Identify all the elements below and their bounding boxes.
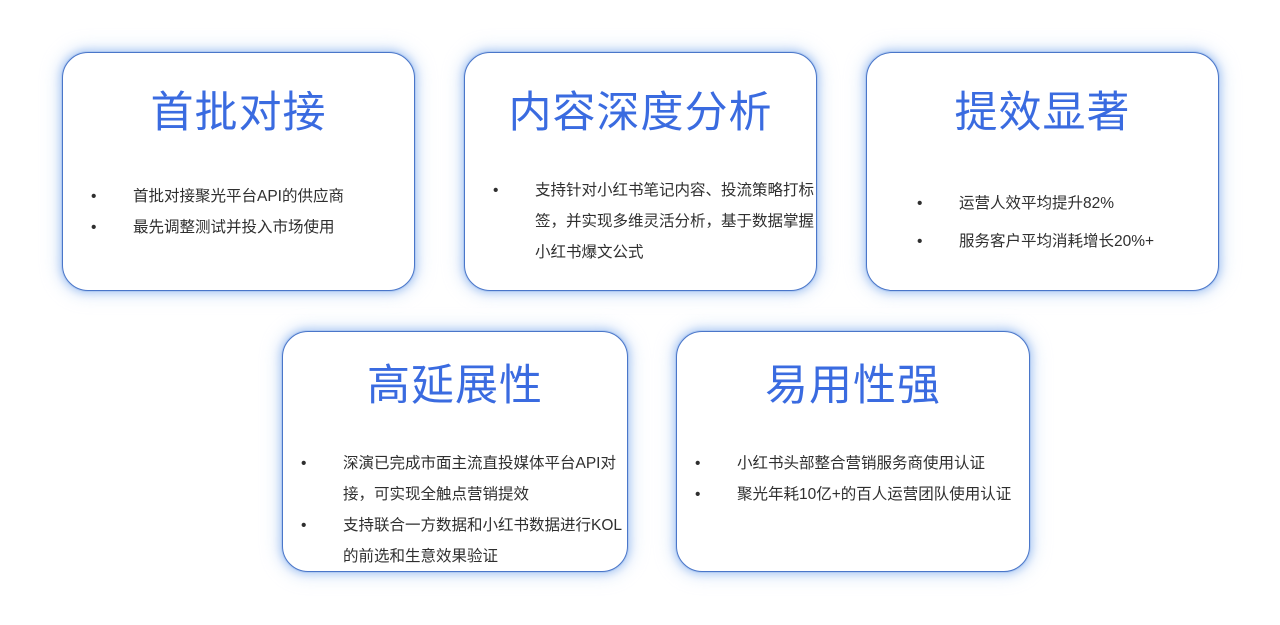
card-title: 提效显著: [867, 89, 1218, 137]
list-item: • 最先调整测试并投入市场使用: [91, 212, 414, 243]
bullet-point-icon: •: [695, 479, 707, 510]
feature-card-first-integration: 首批对接 • 首批对接聚光平台API的供应商 • 最先调整测试并投入市场使用: [62, 52, 415, 291]
feature-cards-slide: 首批对接 • 首批对接聚光平台API的供应商 • 最先调整测试并投入市场使用 内…: [0, 0, 1280, 625]
card-bullet-list: • 深演已完成市面主流直投媒体平台API对接，可实现全触点营销提效 • 支持联合…: [301, 448, 627, 572]
feature-card-ease-of-use: 易用性强 • 小红书头部整合营销服务商使用认证 • 聚光年耗10亿+的百人运营团…: [676, 331, 1030, 572]
card-title: 内容深度分析: [465, 89, 816, 137]
bullet-point-icon: •: [301, 510, 313, 541]
list-item: • 深演已完成市面主流直投媒体平台API对接，可实现全触点营销提效: [301, 448, 627, 510]
list-item: • 首批对接聚光平台API的供应商: [91, 181, 414, 212]
list-item-text: 支持联合一方数据和小红书数据进行KOL的前选和生意效果验证: [343, 510, 627, 572]
bullet-point-icon: •: [917, 223, 929, 261]
list-item: • 支持针对小红书笔记内容、投流策略打标签，并实现多维灵活分析，基于数据掌握小红…: [493, 175, 816, 268]
feature-card-high-extensibility: 高延展性 • 深演已完成市面主流直投媒体平台API对接，可实现全触点营销提效 •…: [282, 331, 628, 572]
feature-card-content-depth-analysis: 内容深度分析 • 支持针对小红书笔记内容、投流策略打标签，并实现多维灵活分析，基…: [464, 52, 817, 291]
list-item: • 支持联合一方数据和小红书数据进行KOL的前选和生意效果验证: [301, 510, 627, 572]
bullet-point-icon: •: [493, 175, 505, 206]
bullet-point-icon: •: [91, 212, 103, 243]
bullet-point-icon: •: [91, 181, 103, 212]
list-item: • 服务客户平均消耗增长20%+: [917, 223, 1218, 261]
card-title: 高延展性: [283, 362, 627, 410]
list-item-text: 首批对接聚光平台API的供应商: [133, 181, 414, 212]
list-item-text: 最先调整测试并投入市场使用: [133, 212, 414, 243]
list-item-text: 运营人效平均提升82%: [959, 185, 1218, 223]
list-item-text: 服务客户平均消耗增长20%+: [959, 223, 1218, 261]
feature-card-efficiency-gain: 提效显著 • 运营人效平均提升82% • 服务客户平均消耗增长20%+: [866, 52, 1219, 291]
card-title: 首批对接: [63, 89, 414, 137]
bullet-point-icon: •: [301, 448, 313, 479]
list-item: • 聚光年耗10亿+的百人运营团队使用认证: [695, 479, 1029, 510]
card-bullet-list: • 首批对接聚光平台API的供应商 • 最先调整测试并投入市场使用: [91, 181, 414, 243]
list-item-text: 深演已完成市面主流直投媒体平台API对接，可实现全触点营销提效: [343, 448, 627, 510]
bullet-point-icon: •: [917, 185, 929, 223]
card-bullet-list: • 小红书头部整合营销服务商使用认证 • 聚光年耗10亿+的百人运营团队使用认证: [695, 448, 1029, 510]
list-item-text: 小红书头部整合营销服务商使用认证: [737, 448, 1029, 479]
card-bullet-list: • 支持针对小红书笔记内容、投流策略打标签，并实现多维灵活分析，基于数据掌握小红…: [493, 175, 816, 268]
list-item: • 小红书头部整合营销服务商使用认证: [695, 448, 1029, 479]
list-item-text: 支持针对小红书笔记内容、投流策略打标签，并实现多维灵活分析，基于数据掌握小红书爆…: [535, 175, 816, 268]
list-item: • 运营人效平均提升82%: [917, 185, 1218, 223]
list-item-text: 聚光年耗10亿+的百人运营团队使用认证: [737, 479, 1029, 510]
card-title: 易用性强: [677, 362, 1029, 410]
card-bullet-list: • 运营人效平均提升82% • 服务客户平均消耗增长20%+: [917, 185, 1218, 261]
bullet-point-icon: •: [695, 448, 707, 479]
